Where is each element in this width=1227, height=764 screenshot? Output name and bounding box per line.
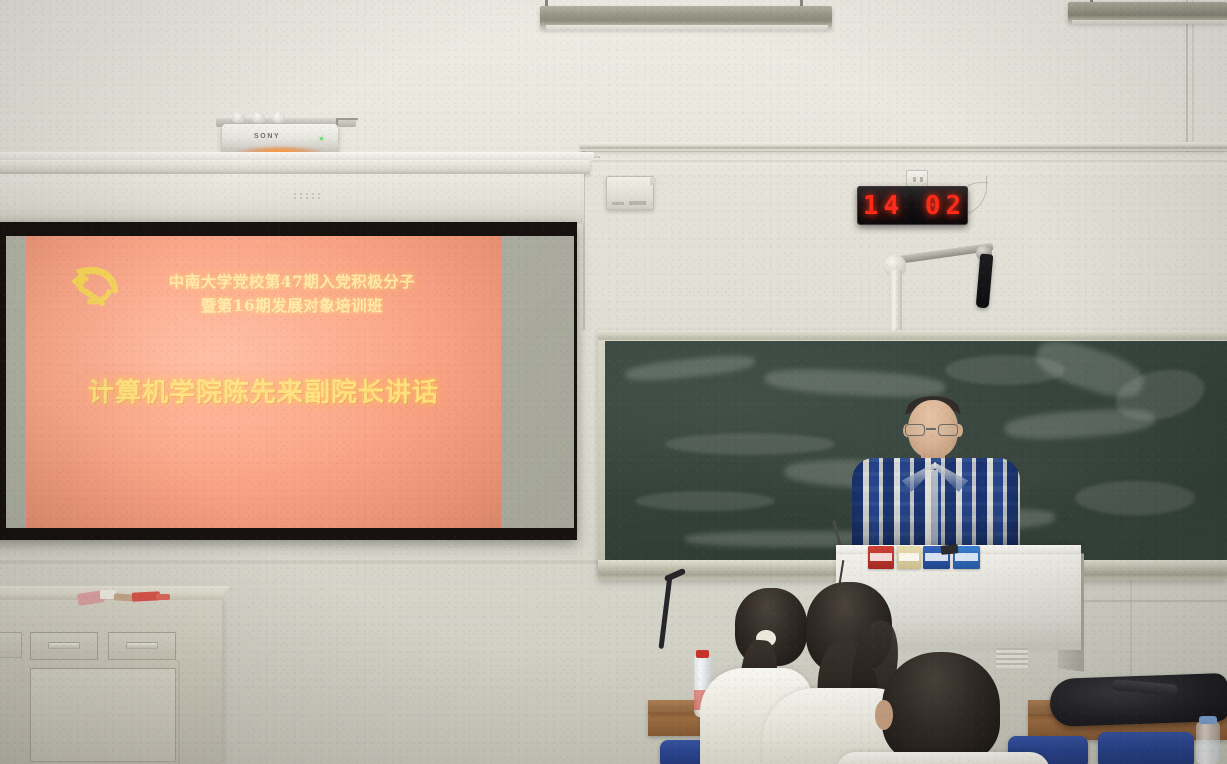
camera-arm-post	[889, 270, 902, 332]
cabinet-seam	[178, 660, 180, 764]
wall-seam	[580, 160, 1227, 162]
bottle-cap	[1199, 716, 1217, 724]
clock-time-display: 14 02	[859, 191, 966, 221]
student-head	[882, 652, 1000, 764]
ceiling-light-fixture	[1068, 2, 1227, 22]
screen-housing-vent	[292, 192, 322, 200]
cabinet-drawer[interactable]	[0, 632, 22, 658]
panel-label-mark	[629, 201, 646, 205]
slide-header-line1: 中南大学党校第47期入党积极分子	[122, 270, 462, 294]
screen-valance	[0, 160, 590, 174]
wall-ledge	[580, 142, 1227, 151]
light-glow	[1072, 20, 1227, 24]
projector-mount-knob	[232, 112, 245, 123]
classroom-photo: SONY	[0, 0, 1227, 764]
auditorium-seat[interactable]	[1098, 732, 1194, 764]
bottle-cap	[696, 650, 709, 658]
slide-header-line2: 暨第16期发展对象培训班	[122, 294, 462, 318]
projector-arm	[336, 118, 358, 120]
hammer-and-sickle-emblem	[62, 258, 126, 314]
wall-control-panel-box[interactable]	[606, 176, 654, 210]
projector-power-led-icon	[320, 137, 323, 140]
slide-header: 中南大学党校第47期入党积极分子 暨第16期发展对象培训班	[122, 270, 462, 318]
water-bottle[interactable]	[1196, 722, 1220, 764]
podium-vent	[996, 648, 1028, 668]
projected-slide: 中南大学党校第47期入党积极分子 暨第16期发展对象培训班 计算机学院陈先来副院…	[26, 236, 501, 528]
panel-label-mark	[612, 202, 624, 205]
projector-brand-label: SONY	[254, 133, 280, 140]
cabinet-top-items	[78, 590, 174, 606]
panel-hinge	[650, 178, 656, 186]
projection-screen-surface: 中南大学党校第47期入党积极分子 暨第16期发展对象培训班 计算机学院陈先来副院…	[6, 236, 574, 528]
projector-mount-knob	[272, 112, 285, 123]
chalk-box-red[interactable]	[868, 546, 894, 569]
wall-seam	[0, 560, 600, 564]
speaker-eyeglasses	[905, 424, 961, 436]
projection-screen-frame: 中南大学党校第47期入党积极分子 暨第16期发展对象培训班 计算机学院陈先来副院…	[0, 222, 577, 540]
blackboard-top-rail	[598, 330, 1227, 340]
slide-title: 计算机学院陈先来副院长讲话	[26, 372, 501, 409]
light-glow	[546, 25, 828, 30]
pointer-stick[interactable]	[941, 544, 959, 555]
cabinet-drawer-handle[interactable]	[48, 642, 80, 649]
digital-wall-clock: 14 02	[857, 186, 968, 225]
cabinet-drawer-handle[interactable]	[126, 642, 158, 649]
student-ear	[875, 700, 893, 730]
projector-mount-knob	[252, 112, 265, 123]
red-cap-item[interactable]	[156, 594, 170, 600]
wall-power-outlet	[906, 170, 928, 187]
chalk-box-cream[interactable]	[897, 546, 921, 569]
cabinet-door[interactable]	[30, 668, 176, 762]
student-shoulders	[836, 752, 1050, 764]
